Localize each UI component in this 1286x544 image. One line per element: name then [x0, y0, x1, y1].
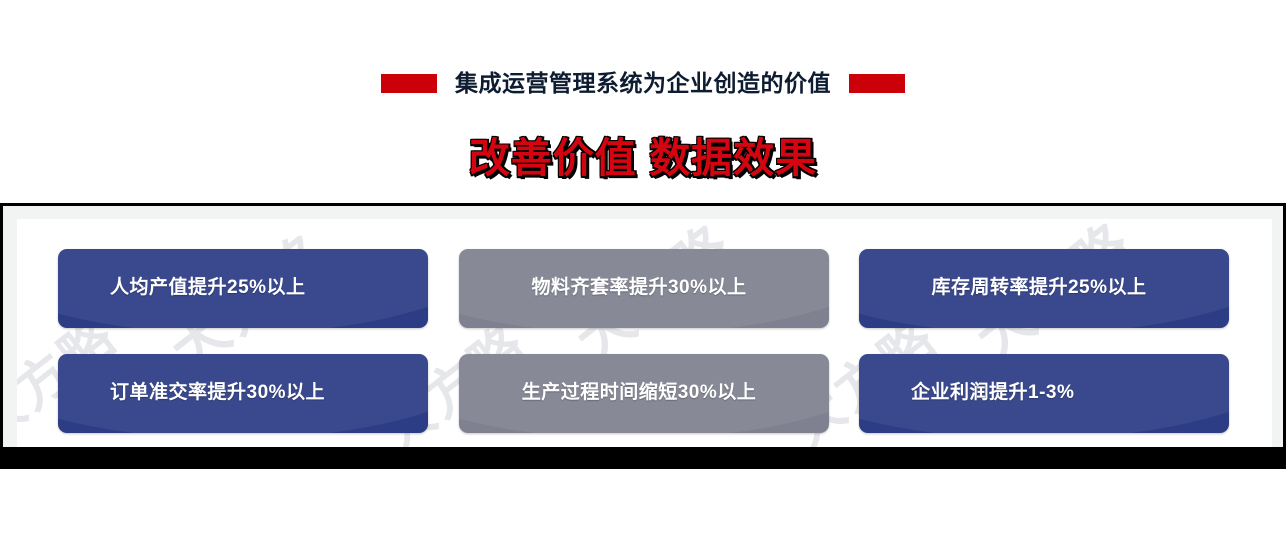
red-accent-bar-left	[381, 74, 437, 93]
value-card-label: 物料齐套率提升30%以上	[459, 277, 829, 300]
value-card-label: 人均产值提升25%以上	[58, 277, 428, 300]
value-card-label: 库存周转率提升25%以上	[859, 277, 1229, 300]
page-title: 改善价值 数据效果	[469, 136, 817, 181]
main-title-wrap: 改善价值 数据效果	[0, 136, 1286, 181]
value-card[interactable]: 生产过程时间缩短30%以上	[459, 354, 829, 433]
value-card[interactable]: 库存周转率提升25%以上	[859, 249, 1229, 328]
value-card[interactable]: 企业利润提升1-3%	[859, 354, 1229, 433]
content-panel: 大方略 大方略 大方略 大方略 大方略 大方略 人均产值提升25%以上 物	[17, 219, 1272, 447]
subtitle-row: 集成运营管理系统为企业创造的价值	[0, 66, 1286, 100]
value-card[interactable]: 订单准交率提升30%以上	[58, 354, 428, 433]
value-card[interactable]: 物料齐套率提升30%以上	[459, 249, 829, 328]
content-panel-inset: 大方略 大方略 大方略 大方略 大方略 大方略 人均产值提升25%以上 物	[3, 206, 1283, 447]
value-card-label: 企业利润提升1-3%	[859, 382, 1229, 405]
value-card-label: 订单准交率提升30%以上	[58, 382, 428, 405]
red-accent-bar-right	[849, 74, 905, 93]
value-card[interactable]: 人均产值提升25%以上	[58, 249, 428, 328]
value-card-grid: 人均产值提升25%以上 物料齐套率提升30%以上 库存周转率提升25%以上 订单…	[17, 219, 1272, 447]
slide-header: 集成运营管理系统为企业创造的价值 改善价值 数据效果	[0, 0, 1286, 202]
content-panel-frame: 大方略 大方略 大方略 大方略 大方略 大方略 人均产值提升25%以上 物	[0, 203, 1286, 469]
value-card-label: 生产过程时间缩短30%以上	[459, 382, 829, 405]
slide-root: 集成运营管理系统为企业创造的价值 改善价值 数据效果 大方略 大方略 大方略 大…	[0, 0, 1286, 544]
slide-subtitle: 集成运营管理系统为企业创造的价值	[455, 72, 831, 95]
